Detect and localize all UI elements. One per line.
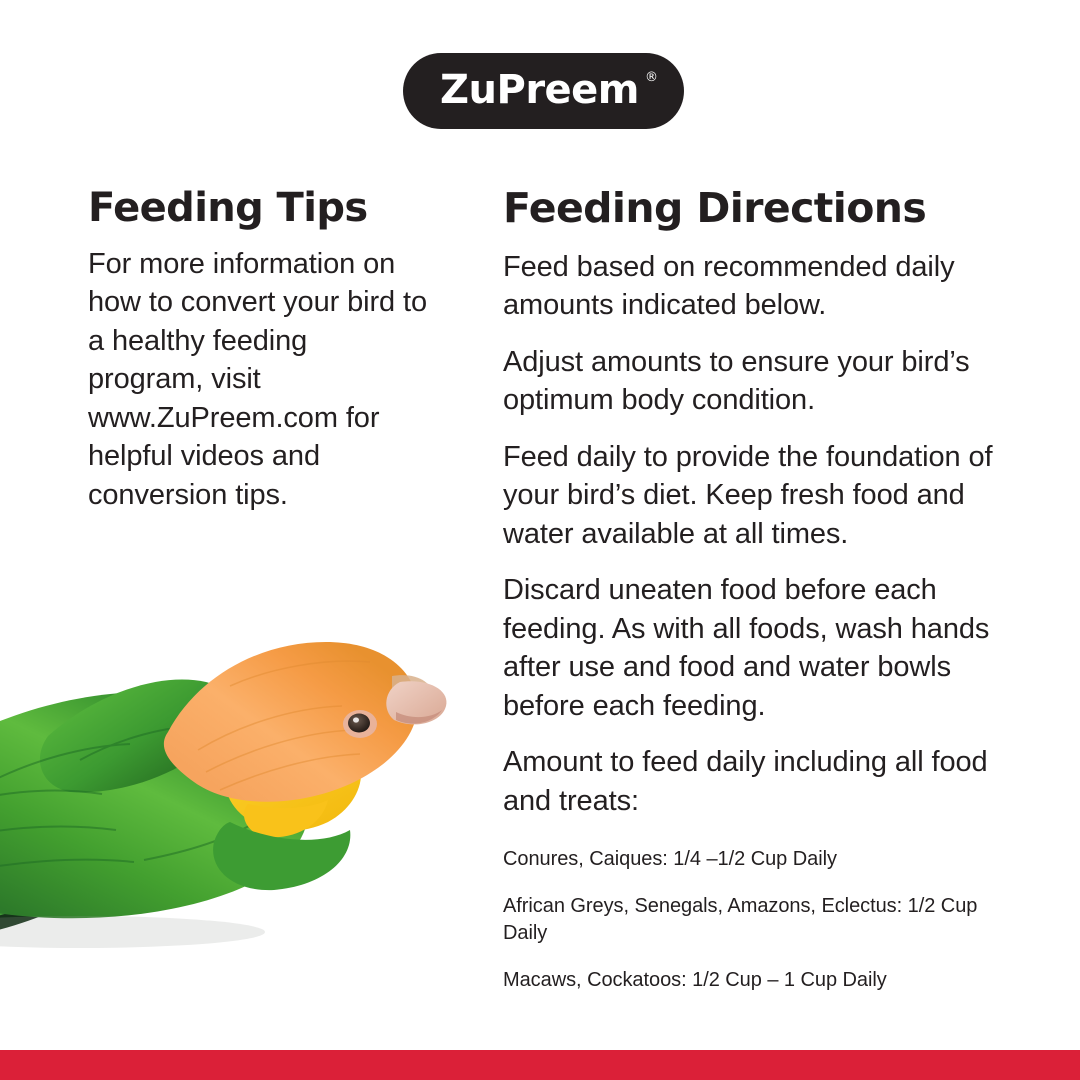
amount-line-macaws: Macaws, Cockatoos: 1/2 Cup – 1 Cup Daily bbox=[503, 967, 1003, 994]
bird-beak-shadow bbox=[396, 710, 442, 724]
feeding-panel-page: ZuPreem ® Feeding Tips For more informat… bbox=[0, 0, 1080, 1080]
bird-tail-dark-edge bbox=[0, 876, 110, 942]
registered-trademark-icon: ® bbox=[645, 71, 658, 84]
bird-eye-highlight bbox=[353, 717, 359, 722]
bird-nape-yellow bbox=[223, 724, 362, 831]
directions-paragraph-1: Feed based on recommended daily amounts … bbox=[503, 248, 1003, 325]
bird-shoulder-patch bbox=[194, 681, 270, 714]
bird-head-orange bbox=[164, 642, 418, 802]
bird-beak bbox=[386, 681, 446, 724]
feeding-tips-paragraph: For more information on how to convert y… bbox=[88, 245, 428, 515]
feeding-directions-title: Feeding Directions bbox=[503, 186, 1003, 232]
bird-shadow bbox=[0, 916, 265, 948]
feeding-amounts-list: Conures, Caiques: 1/4 –1/2 Cup Daily Afr… bbox=[503, 846, 1003, 994]
zupreem-logo: ZuPreem ® bbox=[403, 53, 684, 129]
bird-breast bbox=[213, 822, 350, 890]
bird-eye bbox=[348, 714, 370, 733]
directions-paragraph-3: Feed daily to provide the foundation of … bbox=[503, 438, 1003, 554]
feeding-directions-column: Feeding Directions Feed based on recomme… bbox=[503, 186, 1003, 994]
bird-body bbox=[0, 692, 309, 918]
bottom-accent-bar bbox=[0, 1050, 1080, 1080]
bird-eye-ring bbox=[343, 710, 377, 738]
bird-tail-feathers bbox=[0, 828, 145, 922]
bird-head-texture bbox=[198, 661, 370, 790]
logo-pill-shape: ZuPreem ® bbox=[403, 53, 684, 129]
feeding-tips-title: Feeding Tips bbox=[88, 186, 428, 231]
caique-parrot-image bbox=[0, 560, 460, 980]
logo-wordmark: ZuPreem bbox=[440, 70, 639, 110]
directions-paragraph-5: Amount to feed daily including all food … bbox=[503, 743, 1003, 820]
amount-line-african-greys: African Greys, Senegals, Amazons, Eclect… bbox=[503, 893, 1003, 947]
bird-throat-yellow bbox=[244, 800, 328, 837]
amount-line-conures: Conures, Caiques: 1/4 –1/2 Cup Daily bbox=[503, 846, 1003, 873]
bird-wing bbox=[40, 679, 232, 792]
directions-paragraph-4: Discard uneaten food before each feeding… bbox=[503, 571, 1003, 725]
feeding-tips-column: Feeding Tips For more information on how… bbox=[88, 186, 428, 514]
bird-feather-texture bbox=[0, 726, 256, 874]
bird-cere bbox=[392, 675, 434, 700]
directions-paragraph-2: Adjust amounts to ensure your bird’s opt… bbox=[503, 343, 1003, 420]
